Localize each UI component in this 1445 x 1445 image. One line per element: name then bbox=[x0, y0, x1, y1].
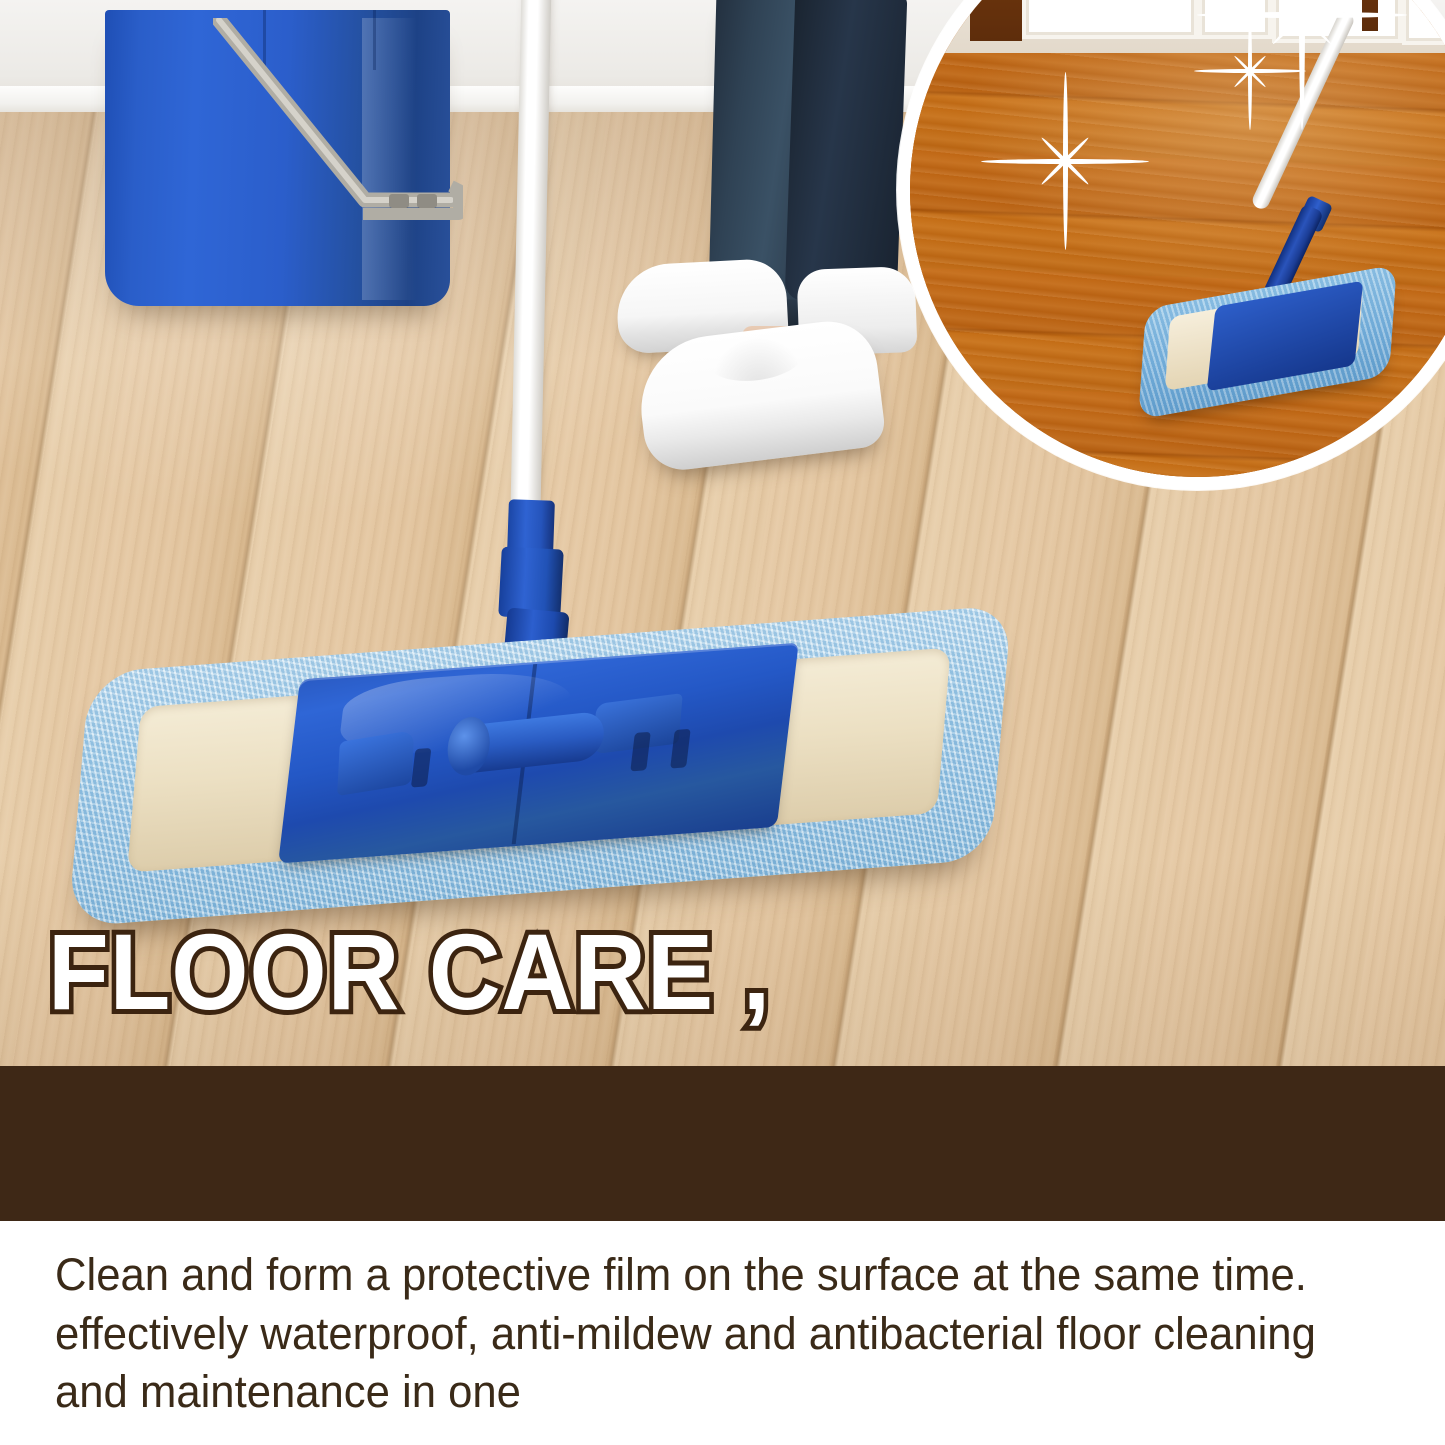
inset-shelf-unit bbox=[1022, 0, 1198, 39]
inset-shelf-dark-panel bbox=[970, 0, 1022, 41]
floor-care-banner: FLOOR CARE , ANTI MOLD AND MOISTURE-PROO… bbox=[0, 0, 1445, 1445]
inset-shelf-unit bbox=[1198, 0, 1272, 39]
body-copy-line: effectively waterproof, anti-mildew and … bbox=[55, 1305, 1374, 1364]
bucket-handle bbox=[213, 18, 463, 256]
mop-bucket bbox=[105, 10, 450, 310]
body-copy-line: and maintenance in one bbox=[55, 1363, 1374, 1422]
headline-banner-bar: ANTI MOLD AND MOISTURE-PROOF bbox=[0, 1066, 1445, 1221]
headline-primary: FLOOR CARE , bbox=[48, 918, 771, 1026]
inset-circle-closeup bbox=[897, 0, 1445, 490]
body-copy-line: Clean and form a protective film on the … bbox=[55, 1246, 1374, 1305]
body-copy: Clean and form a protective film on the … bbox=[55, 1246, 1374, 1422]
inset-shelf-unit bbox=[1402, 0, 1445, 45]
hero-photo: FLOOR CARE , bbox=[0, 0, 1445, 1068]
person-leg-jeans-right bbox=[785, 0, 908, 304]
